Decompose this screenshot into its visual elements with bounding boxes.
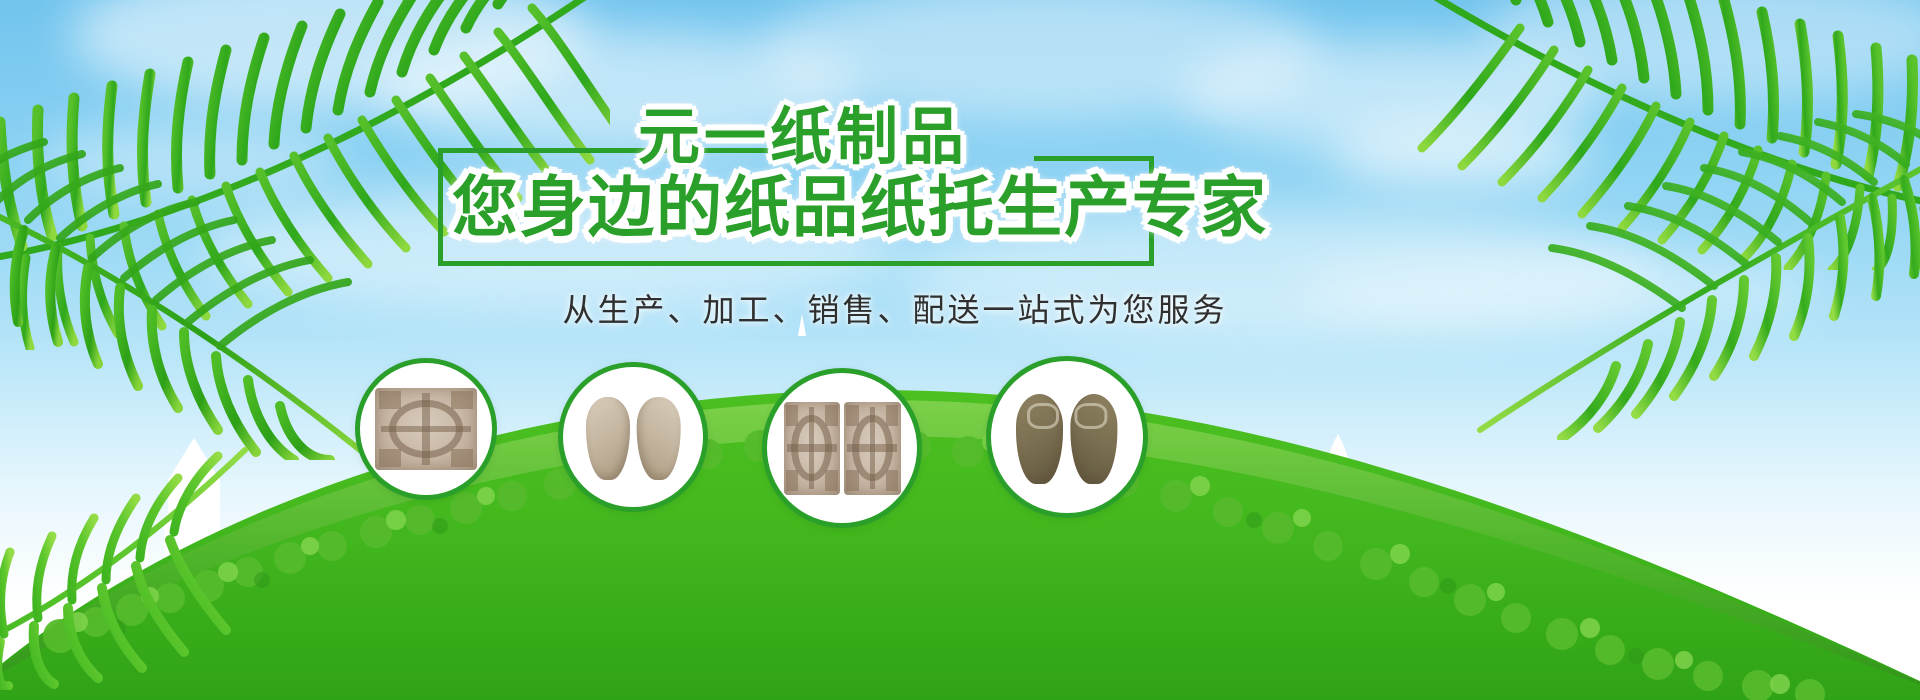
promotional-banner: 元一纸制品 您身边的纸品纸托生产专家 从生产、加工、销售、配送一站式为您服务 — [0, 0, 1920, 700]
palm-leaf-icon — [1440, 110, 1920, 440]
frame-left-rule — [438, 148, 443, 266]
frame-bottom-rule — [438, 261, 1154, 266]
product-image-paper-shoe-trees — [1008, 390, 1127, 484]
page-title: 您身边的纸品纸托生产专家 — [452, 154, 1268, 250]
product-circle-paper-pulp-corner-tray[interactable] — [355, 358, 497, 500]
product-circle-paper-shoe-trees[interactable] — [986, 356, 1148, 518]
subtitle: 从生产、加工、销售、配送一站式为您服务 — [0, 285, 1920, 331]
product-image-paper-pulp-corner-tray — [375, 388, 478, 470]
product-image-paper-shoe-insoles — [578, 394, 687, 481]
product-circle-paper-shoe-insoles[interactable] — [558, 362, 708, 512]
subtitle-text: 从生产、加工、销售、配送一站式为您服务 — [562, 285, 1227, 331]
palm-leaf-icon — [0, 420, 250, 690]
product-circle-paper-pulp-tray-pair[interactable] — [762, 368, 922, 528]
headline-block: 元一纸制品 您身边的纸品纸托生产专家 — [438, 108, 1154, 266]
product-image-paper-pulp-tray-pair — [784, 402, 901, 495]
